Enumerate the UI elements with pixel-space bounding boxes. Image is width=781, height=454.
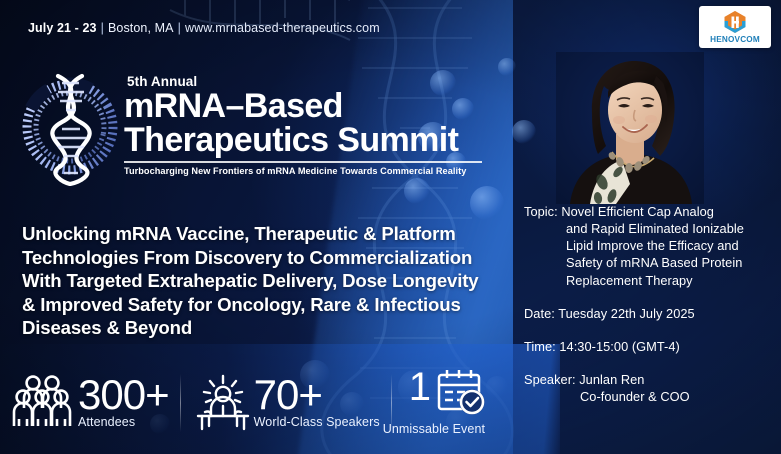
background-bokeh-dot [404, 178, 430, 204]
event-dates: July 21 - 23 [28, 21, 97, 35]
stat-event-number: 1 [409, 370, 430, 404]
background-bokeh-dot [498, 58, 516, 76]
speaker-headshot [556, 52, 704, 204]
page-headline: Unlocking mRNA Vaccine, Therapeutic & Pl… [22, 222, 482, 340]
stat-attendees-text: 300+ Attendees [78, 377, 169, 429]
session-date: Date: Tuesday 22th July 2025 [524, 305, 774, 322]
background-bokeh-dot [512, 120, 536, 144]
event-title-line1: mRNA–Based [124, 90, 494, 123]
session-details: Topic: Novel Efficient Cap Analog and Ra… [524, 203, 774, 405]
top-info-bar: July 21 - 23|Boston, MA|www.mrnabased-th… [0, 0, 781, 52]
stat-event: 1 [403, 370, 488, 436]
stat-speakers-label: World-Class Speakers [254, 415, 380, 429]
session-topic-line1: Novel Efficient Cap Analog [561, 204, 714, 219]
session-time: Time: 14:30-15:00 (GMT-4) [524, 338, 774, 355]
session-topic-line2: and Rapid Eliminated Ionizable [524, 220, 774, 237]
session-topic-label: Topic: [524, 204, 558, 219]
group-of-people-icon [10, 374, 72, 432]
stats-row: 300+ Attendees [10, 366, 530, 440]
title-divider-rule [124, 161, 482, 163]
sponsor-name: HENOVCOM [710, 35, 760, 44]
event-tagline: Turbocharging New Frontiers of mRNA Medi… [124, 166, 494, 176]
hexagon-h-icon [722, 10, 748, 34]
event-promo-poster: July 21 - 23|Boston, MA|www.mrnabased-th… [0, 0, 781, 454]
speaker-at-podium-icon [192, 374, 254, 432]
session-topic: Topic: Novel Efficient Cap Analog and Ra… [524, 203, 774, 289]
stat-speakers-number: 70+ [254, 377, 380, 413]
event-meta-line: July 21 - 23|Boston, MA|www.mrnabased-th… [28, 21, 380, 35]
calendar-check-icon [436, 368, 488, 418]
event-website[interactable]: www.mrnabased-therapeutics.com [185, 21, 380, 35]
stat-event-text: 1 [409, 370, 488, 436]
sponsor-logo[interactable]: HENOVCOM [699, 6, 771, 48]
stats-divider [180, 374, 181, 432]
stat-attendees: 300+ Attendees [10, 374, 169, 432]
event-title-line2: Therapeutics Summit [124, 123, 494, 157]
event-title-block: 5th Annual mRNA–Based Therapeutics Summi… [124, 74, 494, 176]
meta-separator: | [174, 21, 185, 35]
session-topic-line5: Replacement Therapy [524, 272, 774, 289]
session-speaker: Speaker: Junlan Ren Co-founder & COO [524, 371, 774, 405]
stat-speakers-text: 70+ World-Class Speakers [256, 377, 380, 429]
background-bokeh-dot [470, 186, 504, 220]
meta-separator: | [97, 21, 108, 35]
event-location: Boston, MA [108, 21, 174, 35]
stat-event-label: Unmissable Event [383, 422, 488, 436]
stat-attendees-number: 300+ [78, 377, 169, 413]
session-speaker-name: Speaker: Junlan Ren [524, 372, 644, 387]
stat-speakers: 70+ World-Class Speakers [192, 374, 380, 432]
dna-helix-ring-icon [18, 68, 122, 186]
session-topic-line3: Lipid Improve the Efficacy and [524, 237, 774, 254]
stat-event-row: 1 [409, 370, 488, 418]
session-topic-line4: Safety of mRNA Based Protein [524, 254, 774, 271]
session-speaker-title: Co-founder & COO [524, 388, 774, 405]
